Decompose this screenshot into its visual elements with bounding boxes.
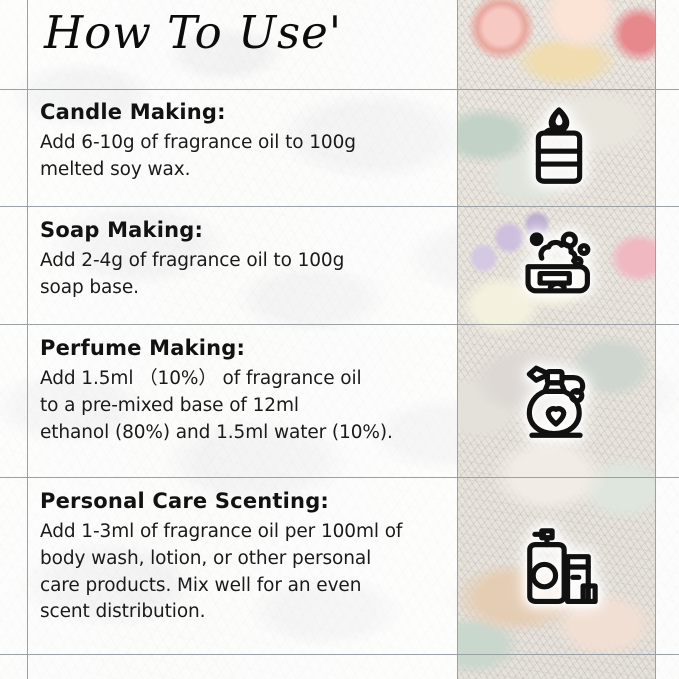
section-heading-candle-making: Candle Making: (40, 100, 440, 124)
how-to-use-infographic: How To Use' Candle Making: Add 6-10g of … (0, 0, 679, 679)
divider-after-perfume (0, 477, 679, 478)
lotion-bottle-icon (516, 524, 602, 610)
section-heading-personal-care-scenting: Personal Care Scenting: (40, 489, 440, 513)
divider-after-soap (0, 324, 679, 325)
section-soap-making: Soap Making: Add 2-4g of fragrance oil t… (40, 218, 440, 302)
left-vertical-rule (27, 0, 28, 679)
section-body-soap-making: Add 2-4g of fragrance oil to 100g soap b… (40, 248, 440, 302)
section-candle-making: Candle Making: Add 6-10g of fragrance oi… (40, 100, 440, 184)
section-body-candle-making: Add 6-10g of fragrance oil to 100g melte… (40, 130, 440, 184)
section-personal-care-scenting: Personal Care Scenting: Add 1-3ml of fra… (40, 489, 440, 626)
candle-icon (516, 103, 602, 189)
divider-under-title (0, 89, 679, 90)
divider-after-personal-care (0, 654, 679, 655)
photo-band-footer (458, 655, 655, 679)
section-perfume-making: Perfume Making: Add 1.5ml （10%） of fragr… (40, 336, 440, 446)
soap-bar-icon (516, 222, 602, 308)
section-heading-soap-making: Soap Making: (40, 218, 440, 242)
perfume-bottle-icon (513, 363, 599, 449)
column-divider-rule (457, 0, 458, 679)
page-title: How To Use' (44, 10, 342, 55)
section-body-perfume-making: Add 1.5ml （10%） of fragrance oil to a pr… (40, 366, 440, 446)
divider-after-candle (0, 206, 679, 207)
right-vertical-rule (655, 0, 656, 679)
photo-band-header (458, 0, 655, 89)
section-heading-perfume-making: Perfume Making: (40, 336, 440, 360)
section-body-personal-care-scenting: Add 1-3ml of fragrance oil per 100ml of … (40, 519, 440, 626)
